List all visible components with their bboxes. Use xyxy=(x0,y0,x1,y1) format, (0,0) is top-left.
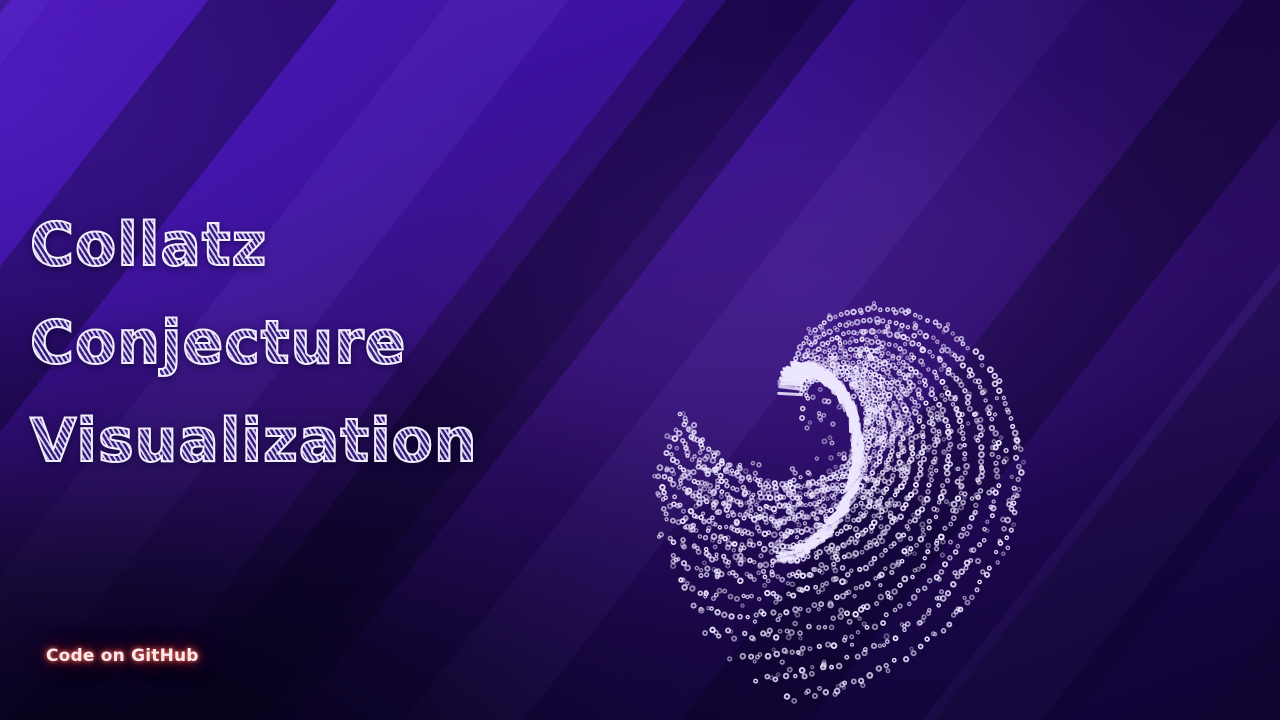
title-line-3: Visualization xyxy=(30,392,550,490)
title-card: Collatz Conjecture Visualization Code on… xyxy=(0,0,1280,720)
title-line-1: Collatz xyxy=(30,196,550,294)
page-title: Collatz Conjecture Visualization xyxy=(30,196,550,490)
code-on-github-link[interactable]: Code on GitHub xyxy=(46,646,199,666)
title-line-2: Conjecture xyxy=(30,294,550,392)
spiral-dot-layer xyxy=(653,302,1025,703)
